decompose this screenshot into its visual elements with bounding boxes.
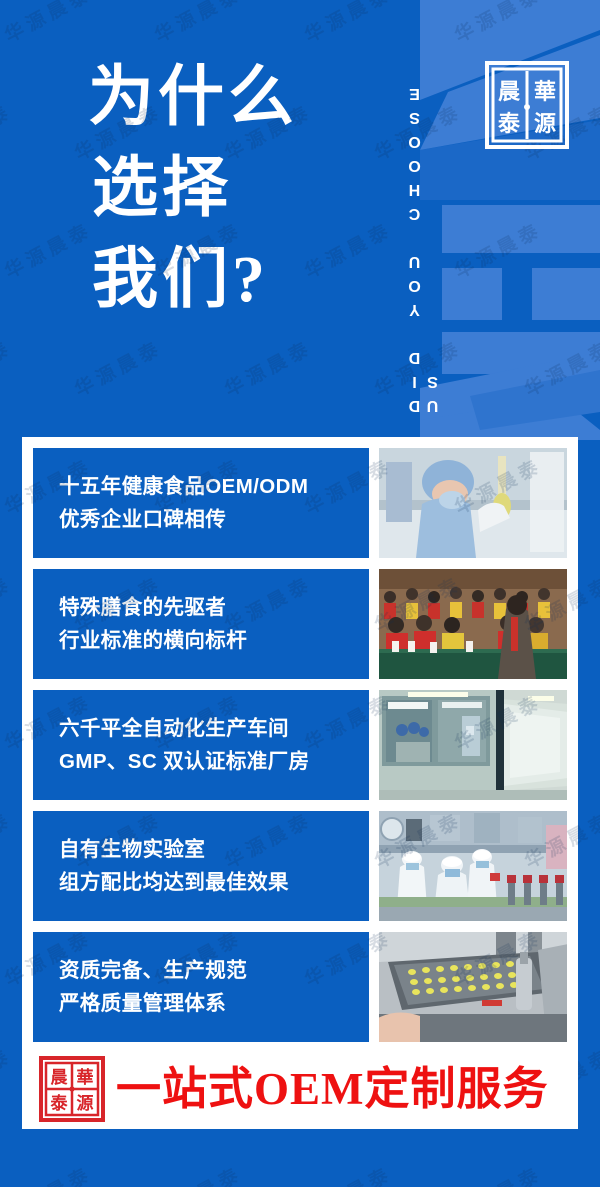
svg-text:泰: 泰: [497, 111, 521, 136]
watermark-text: 华源晨泰: [149, 1159, 246, 1187]
watermark-text: 华源晨泰: [0, 569, 17, 638]
card-line-2: 行业标准的横向标杆: [59, 624, 369, 657]
page-title: 为什么 选择 我们?: [88, 52, 388, 325]
watermark-text: 华源晨泰: [0, 805, 17, 874]
list-item[interactable]: 自有生物实验室 组方配比均达到最佳效果: [33, 811, 567, 921]
list-item[interactable]: 十五年健康食品OEM/ODM 优秀企业口碑相传: [33, 448, 567, 558]
watermark-text: 华源晨泰: [449, 1159, 546, 1187]
headline-line-3: 我们?: [88, 234, 388, 325]
svg-text:華: 華: [534, 79, 556, 104]
card-line-1: 六千平全自动化生产车间: [59, 712, 369, 745]
card-line-1: 自有生物实验室: [59, 833, 369, 866]
production-line-staff-photo: [379, 811, 567, 921]
card-text-block: 自有生物实验室 组方配比均达到最佳效果: [33, 811, 369, 921]
brand-seal-icon: 華 源 晨 泰: [483, 57, 571, 153]
lab-technician-photo: [379, 448, 567, 558]
poster-root: 为什么 选择 我们? DID YOU CHOOSE US 華 源 晨 泰: [0, 0, 600, 1187]
conference-audience-photo: [379, 569, 567, 679]
watermark-text: 华源晨泰: [0, 1159, 97, 1187]
cleanroom-corridor-photo: [379, 690, 567, 800]
card-text-block: 资质完备、生产规范 严格质量管理体系: [33, 932, 369, 1042]
svg-text:源: 源: [77, 1093, 94, 1113]
tablet-packaging-machine-photo: [379, 932, 567, 1042]
card-line-1: 资质完备、生产规范: [59, 954, 369, 987]
cta-banner[interactable]: 華 源 晨 泰 一站式OEM定制服务: [22, 1049, 578, 1129]
svg-text:晨: 晨: [498, 79, 521, 104]
svg-text:華: 華: [77, 1068, 94, 1087]
brand-seal-red-icon: 華 源 晨 泰: [38, 1055, 106, 1123]
svg-text:晨: 晨: [51, 1068, 69, 1087]
card-line-2: 组方配比均达到最佳效果: [59, 866, 369, 899]
headline-line-1: 为什么: [88, 52, 388, 143]
svg-text:泰: 泰: [51, 1093, 69, 1113]
vertical-caption: DID YOU CHOOSE US: [406, 18, 440, 414]
card-line-2: 严格质量管理体系: [59, 987, 369, 1020]
svg-text:源: 源: [534, 111, 556, 136]
card-text-block: 六千平全自动化生产车间 GMP、SC 双认证标准厂房: [33, 690, 369, 800]
card-text-block: 特殊膳食的先驱者 行业标准的横向标杆: [33, 569, 369, 679]
card-line-1: 十五年健康食品OEM/ODM: [59, 470, 369, 503]
list-item[interactable]: 六千平全自动化生产车间 GMP、SC 双认证标准厂房: [33, 690, 567, 800]
card-text-block: 十五年健康食品OEM/ODM 优秀企业口碑相传: [33, 448, 369, 558]
watermark-text: 华源晨泰: [299, 1159, 396, 1187]
features-list: 十五年健康食品OEM/ODM 优秀企业口碑相传: [33, 448, 567, 1042]
watermark-text: 华源晨泰: [0, 1041, 17, 1110]
features-frame: 十五年健康食品OEM/ODM 优秀企业口碑相传: [22, 437, 578, 1129]
cta-banner-text: 一站式OEM定制服务: [116, 1067, 549, 1112]
card-line-1: 特殊膳食的先驱者: [59, 591, 369, 624]
list-item[interactable]: 资质完备、生产规范 严格质量管理体系: [33, 932, 567, 1042]
card-line-2: 优秀企业口碑相传: [59, 503, 369, 536]
headline-line-2: 选择: [88, 143, 388, 234]
list-item[interactable]: 特殊膳食的先驱者 行业标准的横向标杆: [33, 569, 567, 679]
card-line-2: GMP、SC 双认证标准厂房: [59, 745, 369, 778]
